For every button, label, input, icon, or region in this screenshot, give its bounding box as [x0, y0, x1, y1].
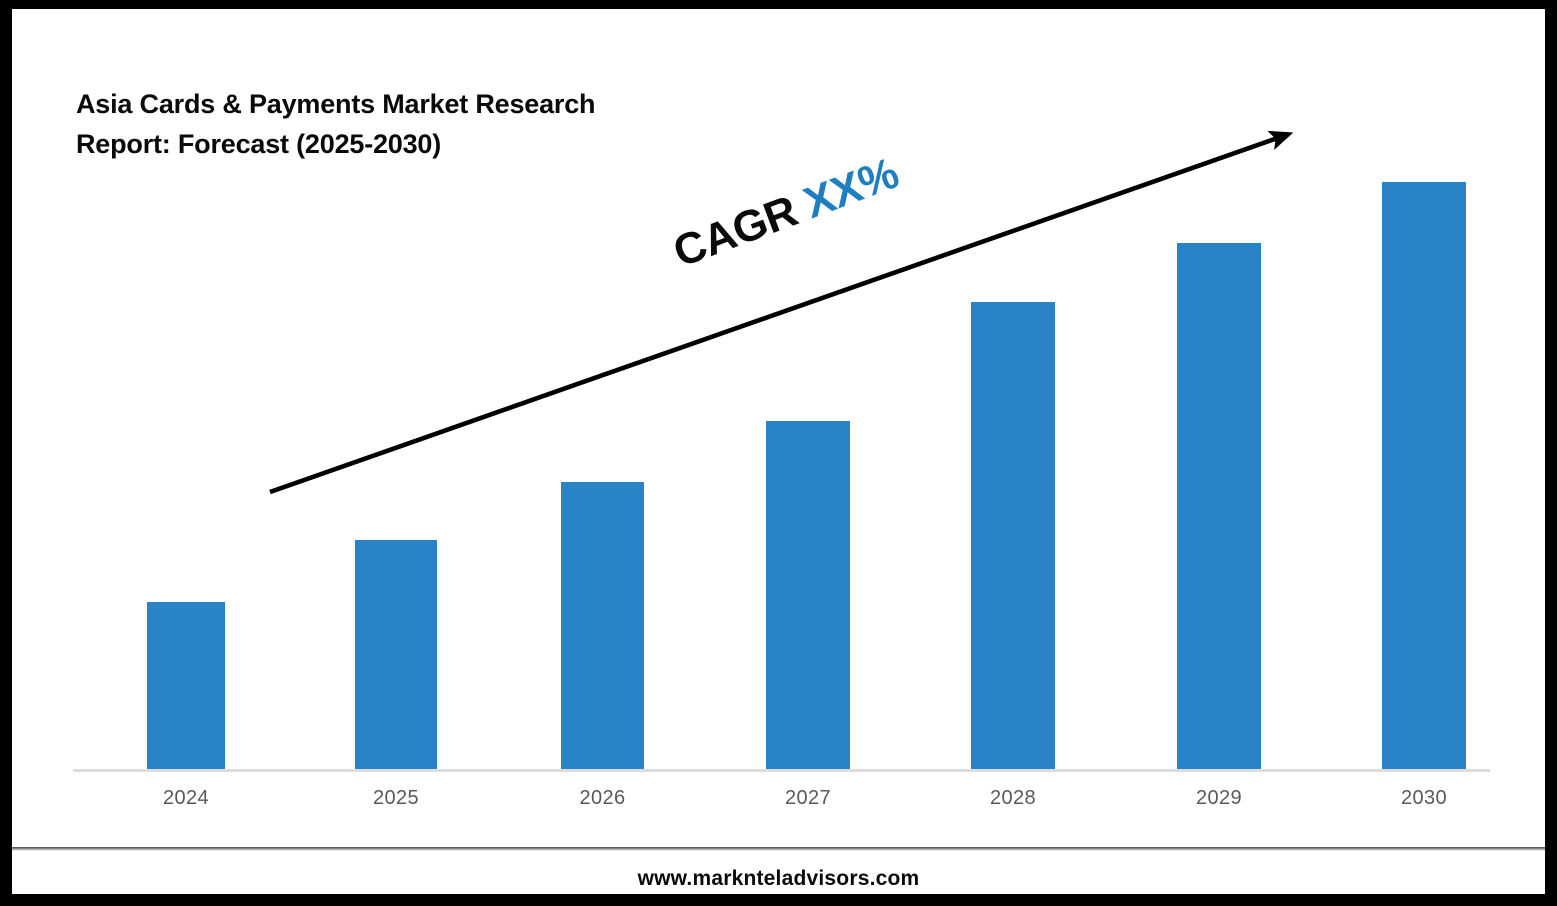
bar-2025 — [355, 540, 437, 769]
x-axis-tick-labels: 2024202520262027202820292030 — [12, 787, 1545, 827]
footer-url: www.marknteladvisors.com — [12, 867, 1545, 891]
bar-2029 — [1177, 243, 1261, 769]
x-tick-2029: 2029 — [1159, 787, 1279, 810]
x-tick-2024: 2024 — [126, 787, 246, 810]
bar-2028 — [971, 302, 1055, 769]
bar-2030 — [1382, 182, 1466, 769]
plot-area: CAGR XX% 2024202520262027202820292030 — [12, 9, 1545, 849]
bar-2026 — [561, 482, 644, 769]
x-tick-2027: 2027 — [748, 787, 868, 810]
bar-2027 — [766, 421, 850, 769]
x-axis-line — [73, 769, 1490, 772]
chart-canvas: Asia Cards & Payments Market Research Re… — [12, 9, 1545, 894]
bar-2024 — [147, 602, 225, 769]
x-tick-2026: 2026 — [543, 787, 663, 810]
x-tick-2025: 2025 — [336, 787, 456, 810]
x-tick-2030: 2030 — [1364, 787, 1484, 810]
footer-divider — [12, 847, 1545, 851]
bars-layer — [12, 9, 1545, 849]
chart-page: Asia Cards & Payments Market Research Re… — [0, 0, 1557, 906]
x-tick-2028: 2028 — [953, 787, 1073, 810]
